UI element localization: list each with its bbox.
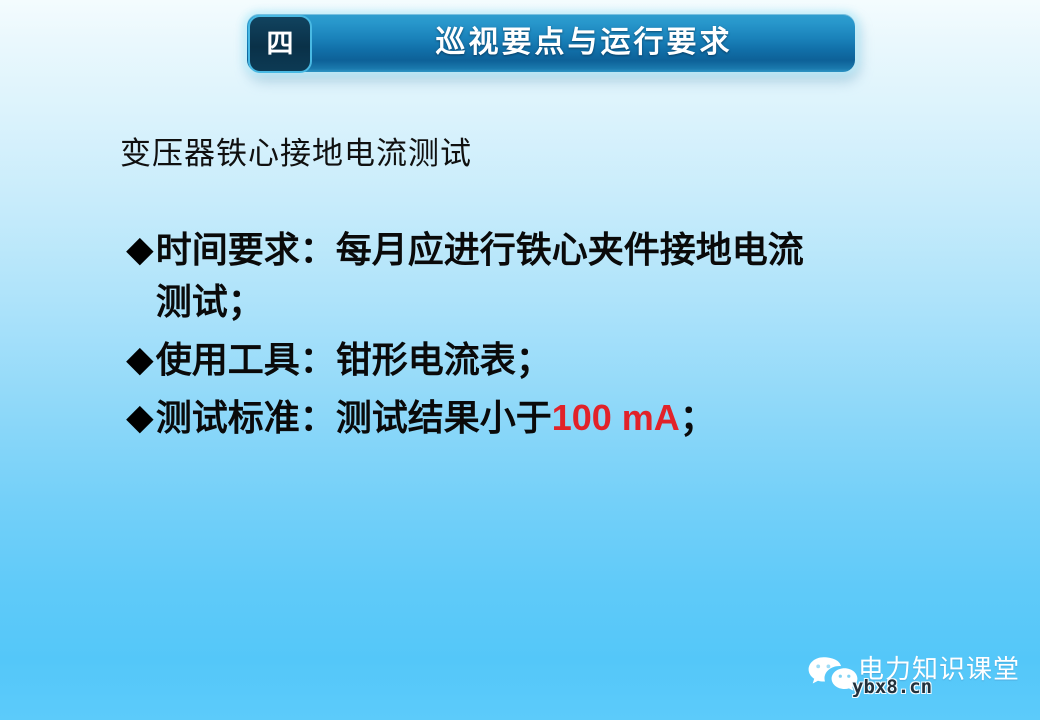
bullet-item-time-requirement: ◆ 时间要求：每月应进行铁心夹件接地电流测试； bbox=[126, 224, 986, 328]
bullet-text: 使用工具：钳形电流表； bbox=[156, 334, 986, 386]
bullet-label: 测试标准： bbox=[156, 397, 336, 438]
banner-bar: 巡视要点与运行要求 bbox=[247, 14, 855, 72]
bullet-list: ◆ 时间要求：每月应进行铁心夹件接地电流测试； ◆ 使用工具：钳形电流表； ◆ … bbox=[126, 224, 986, 450]
bullet-item-standard: ◆ 测试标准：测试结果小于100 mA； bbox=[126, 392, 986, 444]
section-header-banner: 巡视要点与运行要求 四 bbox=[243, 11, 865, 77]
content-subtitle: 变压器铁心接地电流测试 bbox=[120, 128, 472, 173]
bullet-text: 时间要求：每月应进行铁心夹件接地电流测试； bbox=[156, 224, 986, 328]
section-number-box: 四 bbox=[248, 15, 312, 73]
bullet-text: 测试标准：测试结果小于100 mA； bbox=[156, 392, 986, 444]
bullet-tail: ； bbox=[680, 397, 716, 438]
bullet-value: 钳形电流表； bbox=[336, 339, 552, 380]
section-title: 巡视要点与运行要求 bbox=[325, 14, 843, 72]
section-number-label: 四 bbox=[250, 17, 310, 71]
diamond-bullet-icon: ◆ bbox=[126, 392, 154, 444]
bullet-value: 每月应进行铁心夹件接地电流 bbox=[336, 229, 804, 270]
bullet-value: 测试结果小于 bbox=[336, 397, 552, 438]
bullet-highlight-value: 100 mA bbox=[552, 397, 680, 438]
bullet-label: 时间要求： bbox=[156, 229, 336, 270]
diamond-bullet-icon: ◆ bbox=[126, 334, 154, 386]
bullet-item-tool: ◆ 使用工具：钳形电流表； bbox=[126, 334, 986, 386]
bullet-value-line2: 测试； bbox=[156, 276, 986, 328]
slide-canvas: 巡视要点与运行要求 四 变压器铁心接地电流测试 ◆ 时间要求：每月应进行铁心夹件… bbox=[0, 0, 1040, 720]
watermark: 电力知识课堂 ybx8.cn bbox=[806, 650, 1026, 702]
diamond-bullet-icon: ◆ bbox=[126, 224, 154, 276]
watermark-domain: ybx8.cn bbox=[852, 676, 932, 698]
bullet-label: 使用工具： bbox=[156, 339, 336, 380]
